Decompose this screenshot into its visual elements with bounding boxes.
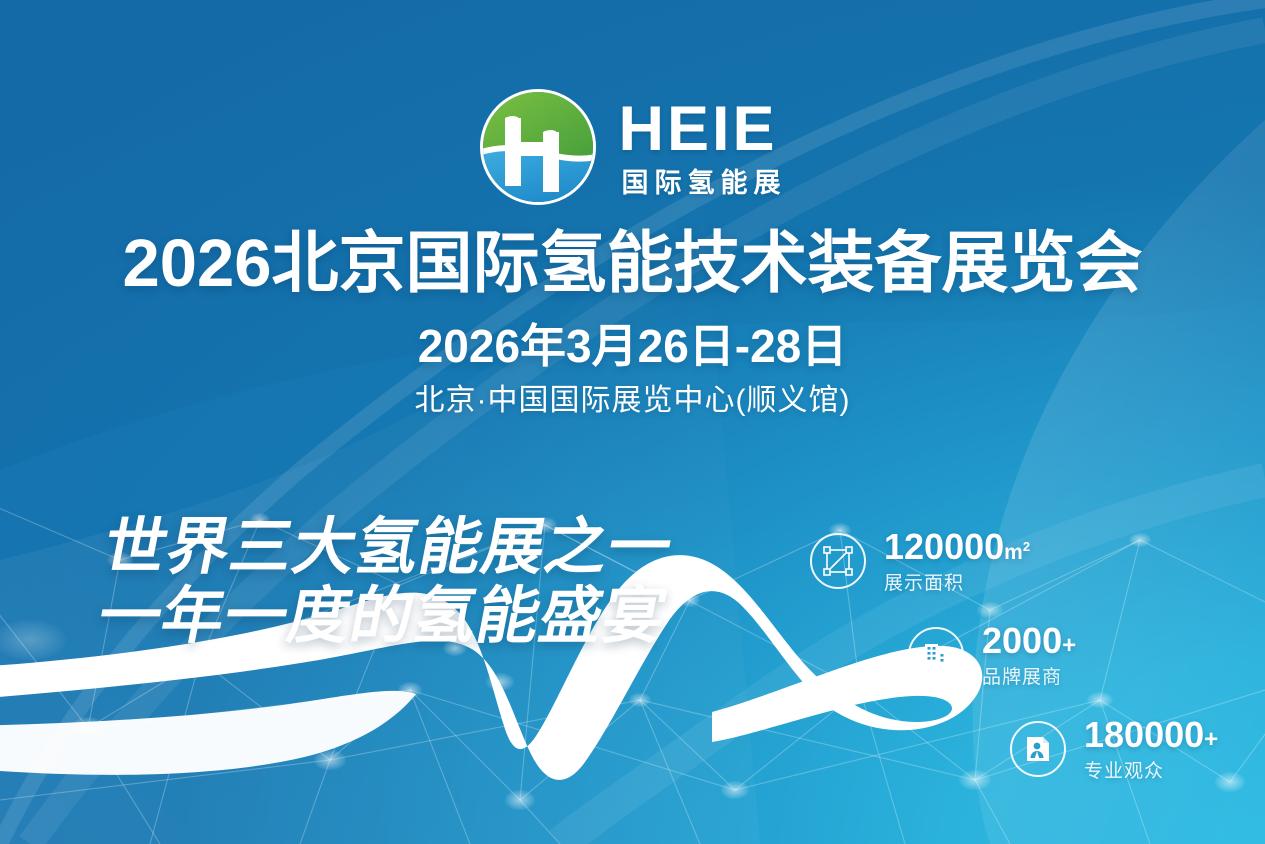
- building-icon: [908, 627, 964, 683]
- stat-label: 展示面积: [884, 574, 1030, 593]
- stat-suffix: +: [1062, 632, 1076, 659]
- event-date: 2026年3月26日-28日: [0, 321, 1265, 372]
- stat-text-block: 120000m2 展示面积: [884, 529, 1030, 593]
- stats-block: 120000m2 展示面积: [805, 515, 1265, 815]
- area-measure-icon: [810, 533, 866, 589]
- stat-label: 品牌展商: [982, 668, 1076, 687]
- slogan-line-2: 一年一度的氢能盛宴: [93, 585, 672, 648]
- slogan-block: 世界三大氢能展之一 一年一度的氢能盛宴: [85, 516, 686, 648]
- stat-value: 180000+: [1084, 717, 1218, 753]
- logo-subtitle: 国际氢能展: [619, 170, 787, 197]
- headline-block: 2026北京国际氢能技术装备展览会 2026年3月26日-28日 北京·中国国际…: [0, 228, 1265, 417]
- page-title: 2026北京国际氢能技术装备展览会: [0, 228, 1265, 299]
- stat-text-block: 180000+ 专业观众: [1084, 717, 1218, 781]
- stat-unit: m2: [1004, 541, 1030, 564]
- event-venue: 北京·中国国际展览中心(顺义馆): [0, 384, 1265, 417]
- visitor-badge-icon: [1010, 721, 1066, 777]
- slogan-line-1: 世界三大氢能展之一: [99, 516, 686, 579]
- stat-value: 2000+: [982, 623, 1076, 659]
- stat-exhibition-area: 120000m2 展示面积: [810, 529, 1030, 593]
- heie-circle-logo-icon: [479, 88, 597, 206]
- logo-wordmark: HEIE: [619, 98, 778, 161]
- stat-suffix: +: [1204, 726, 1218, 753]
- logo-lockup: HEIE 国际氢能展: [0, 88, 1265, 206]
- stat-text-block: 2000+ 品牌展商: [982, 623, 1076, 687]
- stat-label: 专业观众: [1084, 762, 1218, 781]
- logo-text-block: HEIE 国际氢能展: [619, 98, 787, 197]
- stat-professional-visitors: 180000+ 专业观众: [1010, 717, 1218, 781]
- stat-value: 120000m2: [884, 529, 1030, 565]
- event-banner: HEIE 国际氢能展 2026北京国际氢能技术装备展览会 2026年3月26日-…: [0, 0, 1265, 844]
- stat-brand-exhibitors: 2000+ 品牌展商: [908, 623, 1076, 687]
